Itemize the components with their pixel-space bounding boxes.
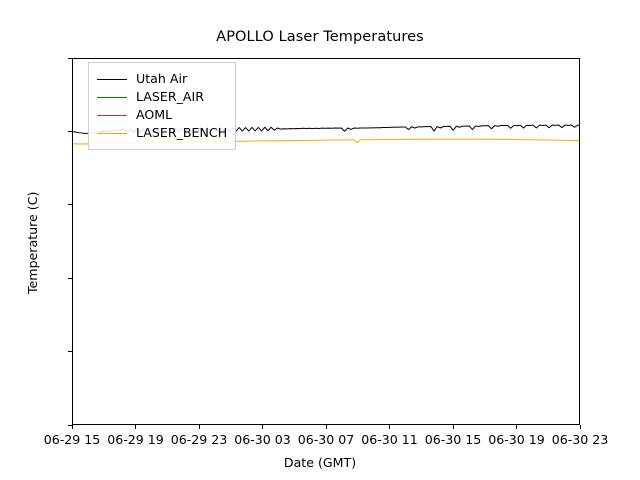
figure-canvas: APOLLO Laser Temperatures Temperature (C… <box>0 0 640 480</box>
x-tick-label: 06-30 07 <box>298 432 355 447</box>
x-tick-label: 06-30 15 <box>425 432 482 447</box>
x-tick-label: 06-29 23 <box>171 432 228 447</box>
legend-item[interactable]: LASER_BENCH <box>97 124 227 142</box>
legend-label: Utah Air <box>136 73 187 86</box>
legend-item[interactable]: AOML <box>97 106 227 124</box>
x-tick-mark <box>199 425 200 429</box>
x-tick-label: 06-30 11 <box>361 432 418 447</box>
x-tick-mark <box>262 425 263 429</box>
legend: Utah AirLASER_AIRAOMLLASER_BENCH <box>88 62 236 150</box>
x-tick-mark <box>326 425 327 429</box>
legend-item[interactable]: LASER_AIR <box>97 88 227 106</box>
x-tick-label: 06-29 19 <box>107 432 164 447</box>
x-tick-mark <box>135 425 136 429</box>
x-tick-mark <box>516 425 517 429</box>
x-axis-label: Date (GMT) <box>0 455 640 470</box>
legend-line-swatch <box>97 115 127 116</box>
legend-label: LASER_BENCH <box>136 127 227 140</box>
legend-label: AOML <box>136 109 172 122</box>
legend-label: LASER_AIR <box>136 91 204 104</box>
x-tick-label: 06-30 03 <box>234 432 291 447</box>
x-tick-label: 06-30 19 <box>488 432 545 447</box>
y-axis-label: Temperature (C) <box>25 192 40 294</box>
legend-line-swatch <box>97 97 127 98</box>
x-tick-mark <box>453 425 454 429</box>
x-tick-mark <box>72 425 73 429</box>
x-tick-mark <box>389 425 390 429</box>
x-tick-label: 06-29 15 <box>44 432 101 447</box>
page-title: APOLLO Laser Temperatures <box>0 29 640 45</box>
x-tick-mark <box>580 425 581 429</box>
legend-item[interactable]: Utah Air <box>97 70 227 88</box>
x-tick-label: 06-30 23 <box>552 432 609 447</box>
legend-line-swatch <box>97 79 127 80</box>
legend-line-swatch <box>97 133 127 134</box>
